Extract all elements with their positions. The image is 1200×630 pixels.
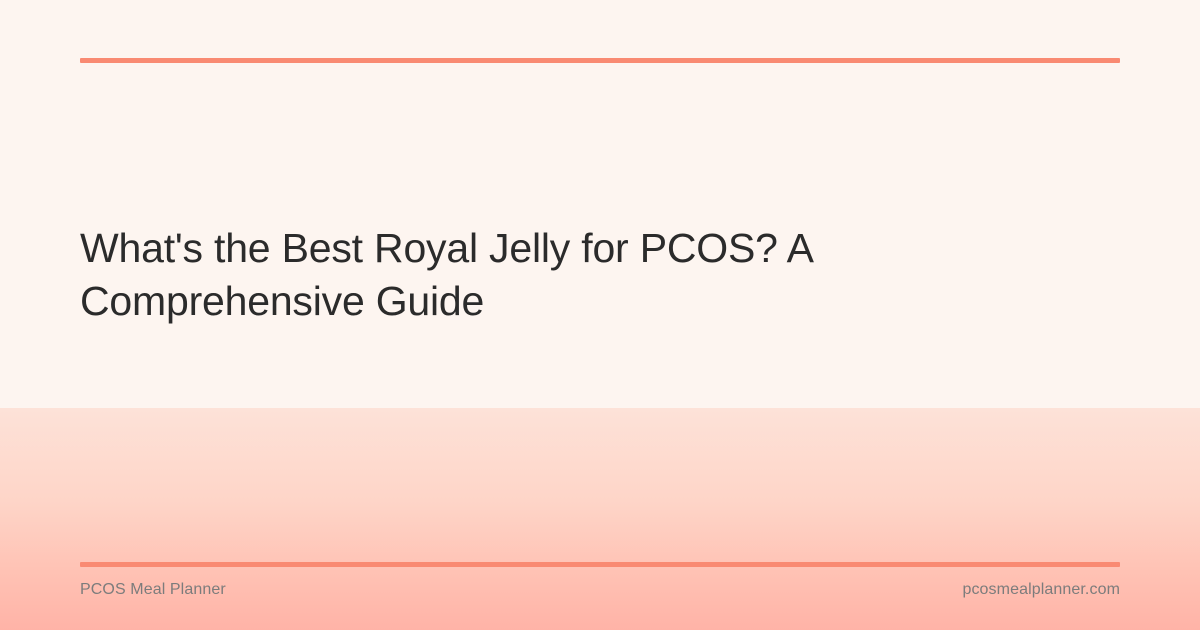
page-title: What's the Best Royal Jelly for PCOS? A … xyxy=(80,222,980,328)
top-accent-rule xyxy=(80,58,1120,63)
card-footer: PCOS Meal Planner pcosmealplanner.com xyxy=(80,580,1120,600)
article-share-card: What's the Best Royal Jelly for PCOS? A … xyxy=(0,0,1200,630)
footer-site-domain: pcosmealplanner.com xyxy=(962,580,1120,600)
footer-divider-rule xyxy=(80,562,1120,567)
footer-brand-name: PCOS Meal Planner xyxy=(80,580,226,600)
title-block: What's the Best Royal Jelly for PCOS? A … xyxy=(80,222,980,328)
